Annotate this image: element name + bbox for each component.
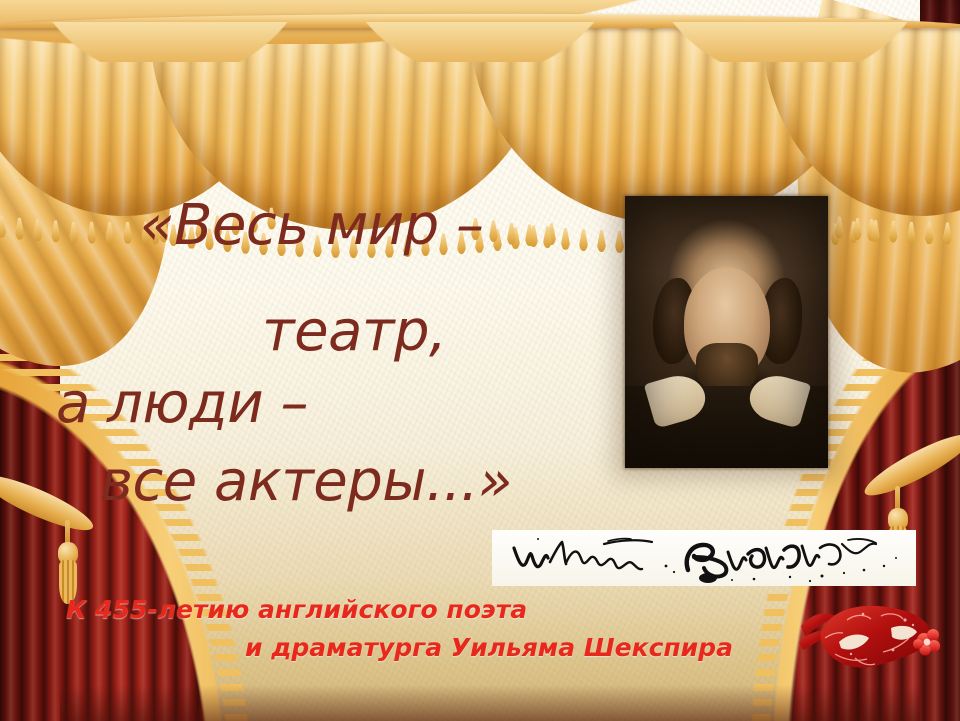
- caption-line-2: и драматурга Уильяма Шекспира: [245, 634, 733, 663]
- pelmet-scallop-edge: [0, 22, 960, 62]
- shakespeare-signature: [492, 530, 916, 586]
- carnival-mask-icon: [795, 592, 955, 688]
- quote-line-4: все актеры...»: [100, 452, 660, 512]
- shakespeare-anniversary-slide: «Весь мир – театр, а люди – все актеры..…: [0, 0, 960, 721]
- quote-line-1: «Весь мир –: [140, 196, 700, 256]
- quote-line-2: театр,: [262, 302, 822, 362]
- left-tieback-tassel: [58, 520, 78, 606]
- quote-line-3: а люди –: [56, 374, 616, 434]
- panel-bottom-shadow: [60, 685, 920, 721]
- caption-line-1: К 455-летию английского поэта: [66, 596, 527, 625]
